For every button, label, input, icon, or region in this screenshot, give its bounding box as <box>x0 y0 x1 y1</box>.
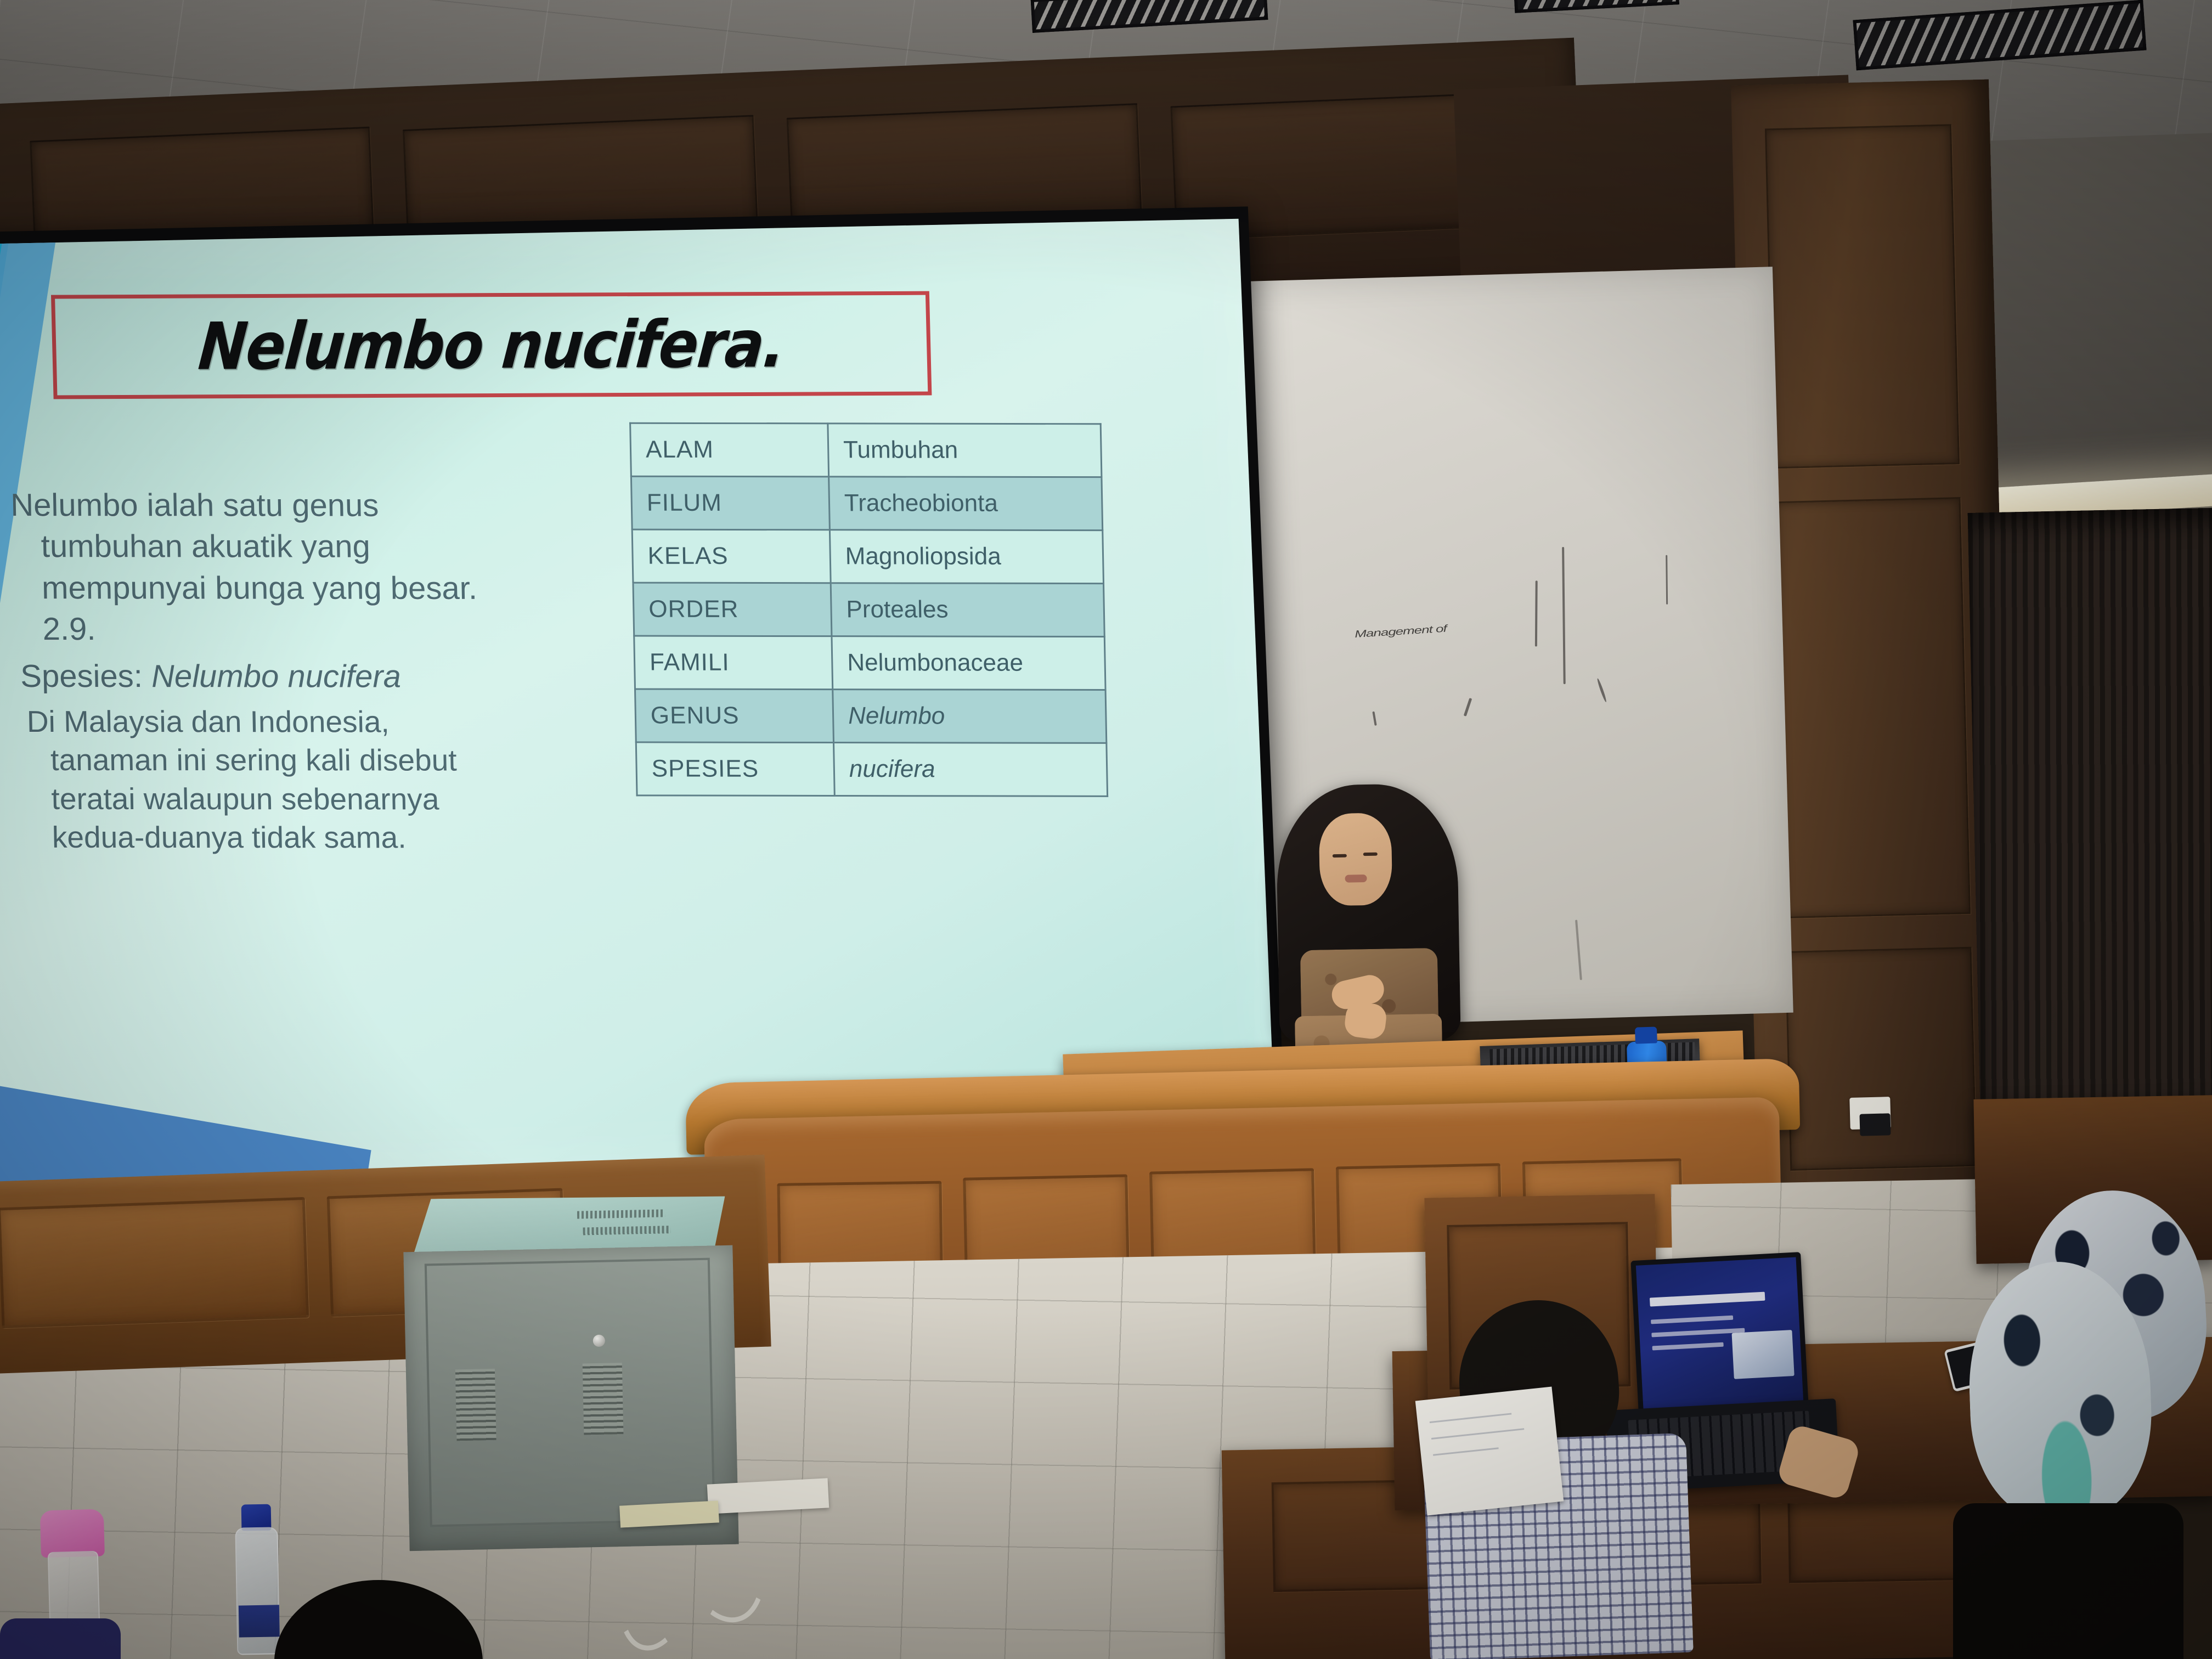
taxonomy-rank: GENUS <box>635 689 834 743</box>
taxonomy-value: Tracheobionta <box>829 477 1103 531</box>
mineral-water-bottle <box>235 1504 280 1654</box>
eye-right <box>1363 853 1378 856</box>
taxonomy-rank: ALAM <box>630 423 829 477</box>
cabinet-lock-icon[interactable] <box>593 1335 605 1347</box>
paragraph-1-line-1: Nelumbo ialah satu genus <box>10 487 379 523</box>
wood-panel <box>1765 124 1960 469</box>
spesies-value: Nelumbo nucifera <box>151 658 401 694</box>
taxonomy-value: Nelumbo <box>833 690 1107 743</box>
taxonomy-row: ALAMTumbuhan <box>630 423 1102 477</box>
screen-image <box>1731 1330 1794 1379</box>
laptop-lid[interactable] <box>1630 1252 1809 1425</box>
whiteboard-mark <box>1562 547 1566 684</box>
taxonomy-rank: ORDER <box>633 583 832 636</box>
taxonomy-row: SPESIESnucifera <box>636 742 1107 796</box>
taxonomy-table: ALAMTumbuhanFILUMTracheobiontaKELASMagno… <box>629 422 1108 797</box>
paragraph-1-line-4: 2.9. <box>13 608 568 650</box>
whiteboard-mark <box>1666 555 1668 605</box>
taxonomy-row: KELASMagnoliopsida <box>632 529 1103 583</box>
wood-panel <box>0 1197 309 1328</box>
taxonomy-row: ORDERProteales <box>633 583 1104 636</box>
slide-spesies-line: Spesies: Nelumbo nucifera <box>14 656 569 697</box>
whiteboard-mark <box>1464 698 1472 716</box>
slide-paragraph-2: Di Malaysia dan Indonesia, tanaman ini s… <box>14 702 572 857</box>
paragraph-2-line-4: kedua-duanya tidak sama. <box>29 818 572 857</box>
whiteboard-mark <box>1372 712 1376 726</box>
paragraph-2-line-3: teratai walaupun sebenarnya <box>28 780 571 819</box>
paragraph-1-line-2: tumbuhan akuatik yang <box>11 526 566 568</box>
taxonomy-value: Nelumbonaceae <box>832 636 1105 690</box>
cabinet-label <box>577 1209 665 1218</box>
whiteboard-scribble: Management of <box>1355 623 1447 640</box>
taxonomy-value: Proteales <box>831 583 1104 637</box>
tumbler-cap <box>40 1509 105 1558</box>
whiteboard-mark <box>1535 580 1538 646</box>
slide-title-box: Nelumbo nucifera. <box>51 291 932 399</box>
screen-text-line <box>1652 1342 1724 1351</box>
bottle-body <box>235 1527 280 1655</box>
taxonomy-rank: KELAS <box>632 529 831 583</box>
projection-screen-frame: Nelumbo nucifera. Nelumbo ialah satu gen… <box>0 206 1286 1198</box>
projected-slide: Nelumbo nucifera. Nelumbo ialah satu gen… <box>0 219 1276 1183</box>
eye-left <box>1333 854 1347 857</box>
cabinet-vent-icon <box>583 1363 624 1435</box>
foreground-shoulder <box>0 1618 121 1659</box>
slide-body-text: Nelumbo ialah satu genus tumbuhan akuati… <box>10 484 572 862</box>
cabinet-label <box>583 1226 671 1235</box>
taxonomy-value: Magnoliopsida <box>830 530 1103 584</box>
attendee-shoulders <box>1953 1503 2183 1659</box>
handout-line <box>1430 1413 1511 1423</box>
slide-title: Nelumbo nucifera. <box>196 306 787 384</box>
lecture-hall-photo: Management of Nelumbo nucifera. Nelumbo … <box>0 0 2212 1659</box>
printed-handout <box>1415 1387 1564 1516</box>
taxonomy-row: GENUSNelumbo <box>635 689 1107 743</box>
paragraph-2-line-1: Di Malaysia dan Indonesia, <box>26 704 390 739</box>
wood-panel <box>1774 497 1971 918</box>
whiteboard-mark <box>1575 920 1582 980</box>
cabinet-vent-icon <box>455 1369 496 1441</box>
bottle-label <box>239 1605 280 1637</box>
slide-corner-blue <box>0 1062 371 1183</box>
taxonomy-rank: FAMILI <box>634 636 833 690</box>
screen-text-line <box>1651 1316 1733 1324</box>
taxonomy-rank: SPESIES <box>636 742 834 796</box>
handout-line <box>1431 1428 1524 1440</box>
whiteboard-mark <box>1596 678 1607 703</box>
taxonomy-row: FILUMTracheobionta <box>631 476 1102 530</box>
taxonomy-row: FAMILINelumbonaceae <box>634 636 1105 690</box>
cabinet-door[interactable] <box>425 1258 715 1527</box>
paragraph-2-line-2: tanaman ini sering kali disebut <box>27 741 571 780</box>
taxonomy-value: Tumbuhan <box>828 424 1102 477</box>
utility-cabinet[interactable] <box>402 1193 738 1550</box>
paragraph-1-line-3: mempunyai bunga yang besar. <box>12 567 567 609</box>
spesies-label: Spesies: <box>20 658 143 694</box>
taxonomy-value: nucifera <box>833 743 1107 797</box>
laptop-screen <box>1636 1257 1804 1420</box>
handout-line <box>1433 1447 1499 1456</box>
presenter-face <box>1319 812 1393 906</box>
screen-text-line <box>1650 1292 1765 1307</box>
mouth <box>1345 874 1367 883</box>
cable-block <box>707 1478 830 1514</box>
screen-text-line <box>1651 1328 1745 1338</box>
taxonomy-rank: FILUM <box>631 476 830 530</box>
slide-paragraph-1: Nelumbo ialah satu genus tumbuhan akuati… <box>10 484 568 650</box>
